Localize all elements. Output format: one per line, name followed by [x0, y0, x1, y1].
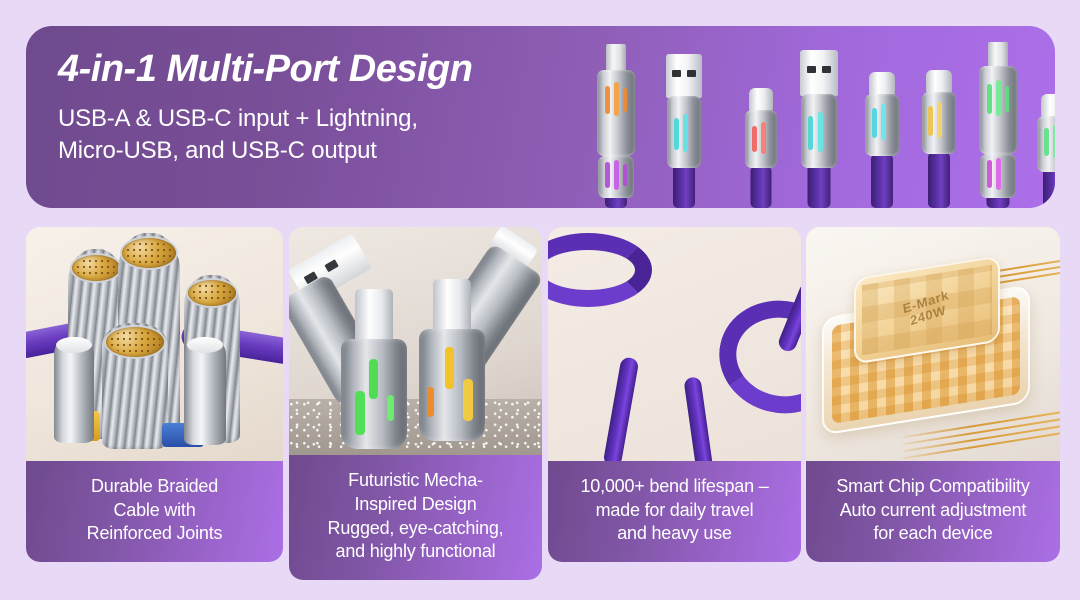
caption-line: Reinforced Joints	[34, 522, 275, 546]
feature-card-durable-braided-cable[interactable]: Durable Braided Cable with Reinforced Jo…	[26, 227, 283, 562]
led-stripe	[623, 164, 627, 186]
led-stripe	[369, 359, 378, 399]
card-caption: Futuristic Mecha- Inspired Design Rugged…	[289, 455, 542, 580]
usb-pin	[672, 70, 681, 77]
chip-label: E-Mark 240W	[855, 273, 1000, 345]
usb-pin	[807, 66, 816, 73]
caption-line: Cable with	[34, 499, 275, 523]
copper-core	[188, 280, 236, 306]
header-subtitle: USB-A & USB-C input + Lightning, Micro-U…	[58, 103, 578, 167]
feature-card-futuristic-mecha-design[interactable]: Futuristic Mecha- Inspired Design Rugged…	[289, 227, 542, 580]
caption-line: Durable Braided	[34, 475, 275, 499]
led-stripe	[427, 387, 434, 417]
header-banner: 4-in-1 Multi-Port Design USB-A & USB-C i…	[26, 26, 1055, 208]
led-stripe	[872, 108, 877, 138]
led-stripe	[752, 126, 757, 152]
led-stripe	[674, 118, 679, 150]
card-caption: Smart Chip Compatibility Auto current ad…	[806, 461, 1060, 562]
led-stripe	[355, 391, 365, 435]
led-stripe	[614, 82, 619, 116]
subtitle-line-2: Micro-USB, and USB-C output	[58, 135, 578, 167]
caption-line: made for daily travel	[556, 499, 793, 523]
caption-line: and heavy use	[556, 522, 793, 546]
usb-a-tip-icon	[800, 50, 838, 96]
caption-line: 10,000+ bend lifespan –	[556, 475, 793, 499]
card-image-e-mark-chip-module: E-Mark 240W	[806, 227, 1060, 465]
caption-line: for each device	[814, 522, 1052, 546]
led-stripe	[996, 80, 1001, 116]
usb-pin	[687, 70, 696, 77]
connector-product-art	[571, 26, 1055, 208]
connector-usb-a-tall-head	[793, 50, 845, 208]
cable-braid	[928, 152, 950, 208]
led-stripe	[1053, 125, 1055, 158]
led-stripe	[1005, 86, 1009, 112]
card-image-cable-wrapped-metal-bar	[548, 227, 801, 465]
cable-braid	[751, 166, 772, 208]
connector-usb-c-small-head	[739, 88, 783, 208]
cable-braid	[871, 154, 893, 208]
feature-card-bend-lifespan[interactable]: 10,000+ bend lifespan – made for daily t…	[548, 227, 801, 562]
connector-lightning-green-dual-head	[973, 42, 1023, 208]
mecha-unit-left	[293, 235, 423, 455]
caption-line: and highly functional	[297, 540, 534, 564]
led-stripe	[996, 158, 1001, 190]
page-title: 4-in-1 Multi-Port Design	[58, 48, 578, 91]
cable-braid	[808, 162, 831, 208]
card-caption: Durable Braided Cable with Reinforced Jo…	[26, 461, 283, 562]
caption-line: Auto current adjustment	[814, 499, 1052, 523]
connector-lightning-usbc-dual-head	[591, 44, 641, 208]
cable-segment	[683, 376, 713, 465]
connector-usb-c-cyan-head	[859, 72, 905, 208]
cable-braid	[1043, 168, 1055, 208]
led-stripe	[463, 379, 473, 421]
gold-trace	[903, 431, 1060, 460]
usb-a-tip-icon	[666, 54, 702, 98]
caption-line: Inspired Design	[297, 493, 534, 517]
subtitle-line-1: USB-A & USB-C input + Lightning,	[58, 103, 578, 135]
header-text-block: 4-in-1 Multi-Port Design USB-A & USB-C i…	[58, 48, 578, 167]
led-stripe	[987, 84, 992, 114]
led-stripe	[928, 106, 933, 136]
cable-braid	[673, 162, 695, 208]
led-stripe	[1044, 128, 1049, 156]
copper-core	[106, 327, 164, 357]
led-stripe	[987, 160, 992, 188]
usb-pin	[324, 259, 338, 272]
caption-line: Futuristic Mecha-	[297, 469, 534, 493]
led-stripe	[605, 86, 610, 114]
led-stripe	[808, 116, 813, 150]
metal-pin	[184, 337, 226, 445]
metal-pin	[54, 337, 94, 443]
led-stripe	[937, 102, 942, 138]
led-stripe	[614, 160, 619, 190]
led-stripe	[623, 88, 627, 112]
led-stripe	[761, 122, 766, 154]
led-stripe	[605, 162, 610, 188]
mecha-unit-right	[405, 229, 539, 457]
connector-usb-c-green-head	[1031, 94, 1055, 208]
card-caption: 10,000+ bend lifespan – made for daily t…	[548, 461, 801, 562]
led-stripe	[387, 395, 394, 421]
feature-card-smart-chip-compatibility[interactable]: E-Mark 240W Smart Chip Compatibility Aut…	[806, 227, 1060, 562]
led-stripe	[683, 114, 688, 152]
led-stripe	[818, 112, 823, 152]
led-stripe	[445, 347, 454, 389]
copper-core	[72, 255, 120, 281]
usb-pin	[822, 66, 831, 73]
connector-usb-c-amber-head	[915, 70, 963, 208]
copper-core	[122, 238, 176, 268]
card-image-mecha-style-connectors	[289, 227, 542, 465]
card-image-braided-copper-strand-cross-section	[26, 227, 283, 465]
caption-line: Smart Chip Compatibility	[814, 475, 1052, 499]
led-stripe	[881, 104, 886, 140]
caption-line: Rugged, eye-catching,	[297, 517, 534, 541]
connector-usb-a-head	[659, 54, 709, 208]
